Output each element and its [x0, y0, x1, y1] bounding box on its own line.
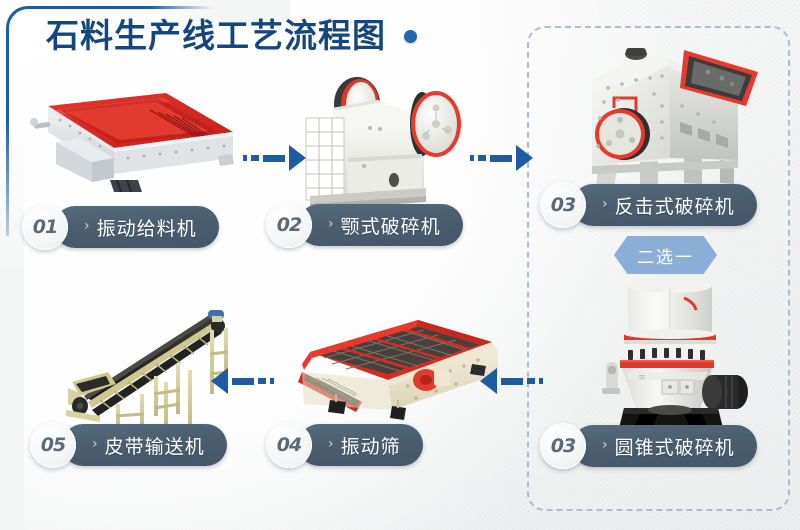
step-number-badge: 01 [22, 204, 68, 250]
step-number-badge: 03 [540, 423, 586, 469]
arrow-head-icon [516, 145, 533, 171]
step-number-badge: 04 [266, 422, 312, 468]
arrow-shaft [490, 155, 512, 162]
arrow-head-icon [289, 145, 306, 171]
step-label-text: 颚式破碎机 [341, 212, 441, 239]
step-number-badge: 02 [266, 202, 312, 248]
arrow-screen-to-conveyor [211, 368, 274, 394]
arrow-head-icon [211, 368, 228, 394]
chevron-right-icon: › [602, 438, 608, 452]
arrow-dash [258, 378, 266, 384]
step-item-04[interactable]: 04 › 振动筛 [266, 423, 423, 467]
svg-text:≡: ≡ [638, 373, 646, 383]
flowchart-canvas: 石料生产线工艺流程图 二选一 [0, 0, 800, 530]
step-label-pill[interactable]: › 圆锥式破碎机 [572, 425, 757, 467]
arrow-shaft [501, 378, 523, 385]
step-label-text: 反击式破碎机 [615, 192, 735, 219]
blue-dot-icon [404, 30, 417, 43]
page-title-group: 石料生产线工艺流程图 [46, 14, 417, 58]
step-number-badge: 05 [30, 422, 76, 468]
cone-crusher-icon: ≡ [566, 276, 776, 438]
impact-crusher-icon [562, 36, 782, 196]
vibrating-screen-icon [296, 308, 502, 426]
step-label-pill[interactable]: › 皮带输送机 [62, 424, 227, 466]
step-label-pill[interactable]: › 反击式破碎机 [572, 184, 757, 226]
step-number-badge: 03 [540, 182, 586, 228]
arrow-feeder-to-jaw [243, 145, 306, 171]
arrow-jaw-to-crusher [470, 145, 533, 171]
choose-one-badge: 二选一 [614, 236, 717, 274]
step-label-text: 振动筛 [341, 432, 401, 459]
arrow-dash [527, 378, 535, 384]
jaw-crusher-icon [302, 62, 480, 210]
vibrating-feeder-icon [18, 88, 248, 200]
step-item-05[interactable]: 05 › 皮带输送机 [30, 423, 227, 467]
step-label-pill[interactable]: › 振动筛 [298, 424, 423, 466]
step-label-text: 皮带输送机 [105, 432, 205, 459]
arrow-head-icon [480, 368, 497, 394]
arrow-dash [539, 378, 543, 384]
step-label-pill[interactable]: › 颚式破碎机 [298, 204, 463, 246]
arrow-shaft [263, 155, 285, 162]
belt-conveyor-icon [58, 298, 266, 428]
arrow-crusher-to-screen [480, 368, 543, 394]
step-label-text: 振动给料机 [97, 214, 197, 241]
step-label-pill[interactable]: › 振动给料机 [54, 206, 219, 248]
arrow-dash [243, 155, 247, 161]
chevron-right-icon: › [84, 219, 90, 233]
step-label-text: 圆锥式破碎机 [615, 433, 735, 460]
arrow-dash [478, 155, 486, 161]
arrow-dash [270, 378, 274, 384]
chevron-right-icon: › [92, 437, 98, 451]
step-item-03-cone[interactable]: 03 › 圆锥式破碎机 [540, 424, 757, 468]
choose-one-label: 二选一 [637, 243, 694, 268]
step-item-01[interactable]: 01 › 振动给料机 [22, 205, 219, 249]
chevron-right-icon: › [328, 217, 334, 231]
page-title: 石料生产线工艺流程图 [46, 14, 386, 58]
chevron-right-icon: › [328, 437, 334, 451]
step-item-02[interactable]: 02 › 颚式破碎机 [266, 203, 463, 247]
arrow-dash [251, 155, 259, 161]
step-item-03-impact[interactable]: 03 › 反击式破碎机 [540, 183, 757, 227]
chevron-right-icon: › [602, 197, 608, 211]
arrow-dash [470, 155, 474, 161]
arrow-shaft [232, 378, 254, 385]
